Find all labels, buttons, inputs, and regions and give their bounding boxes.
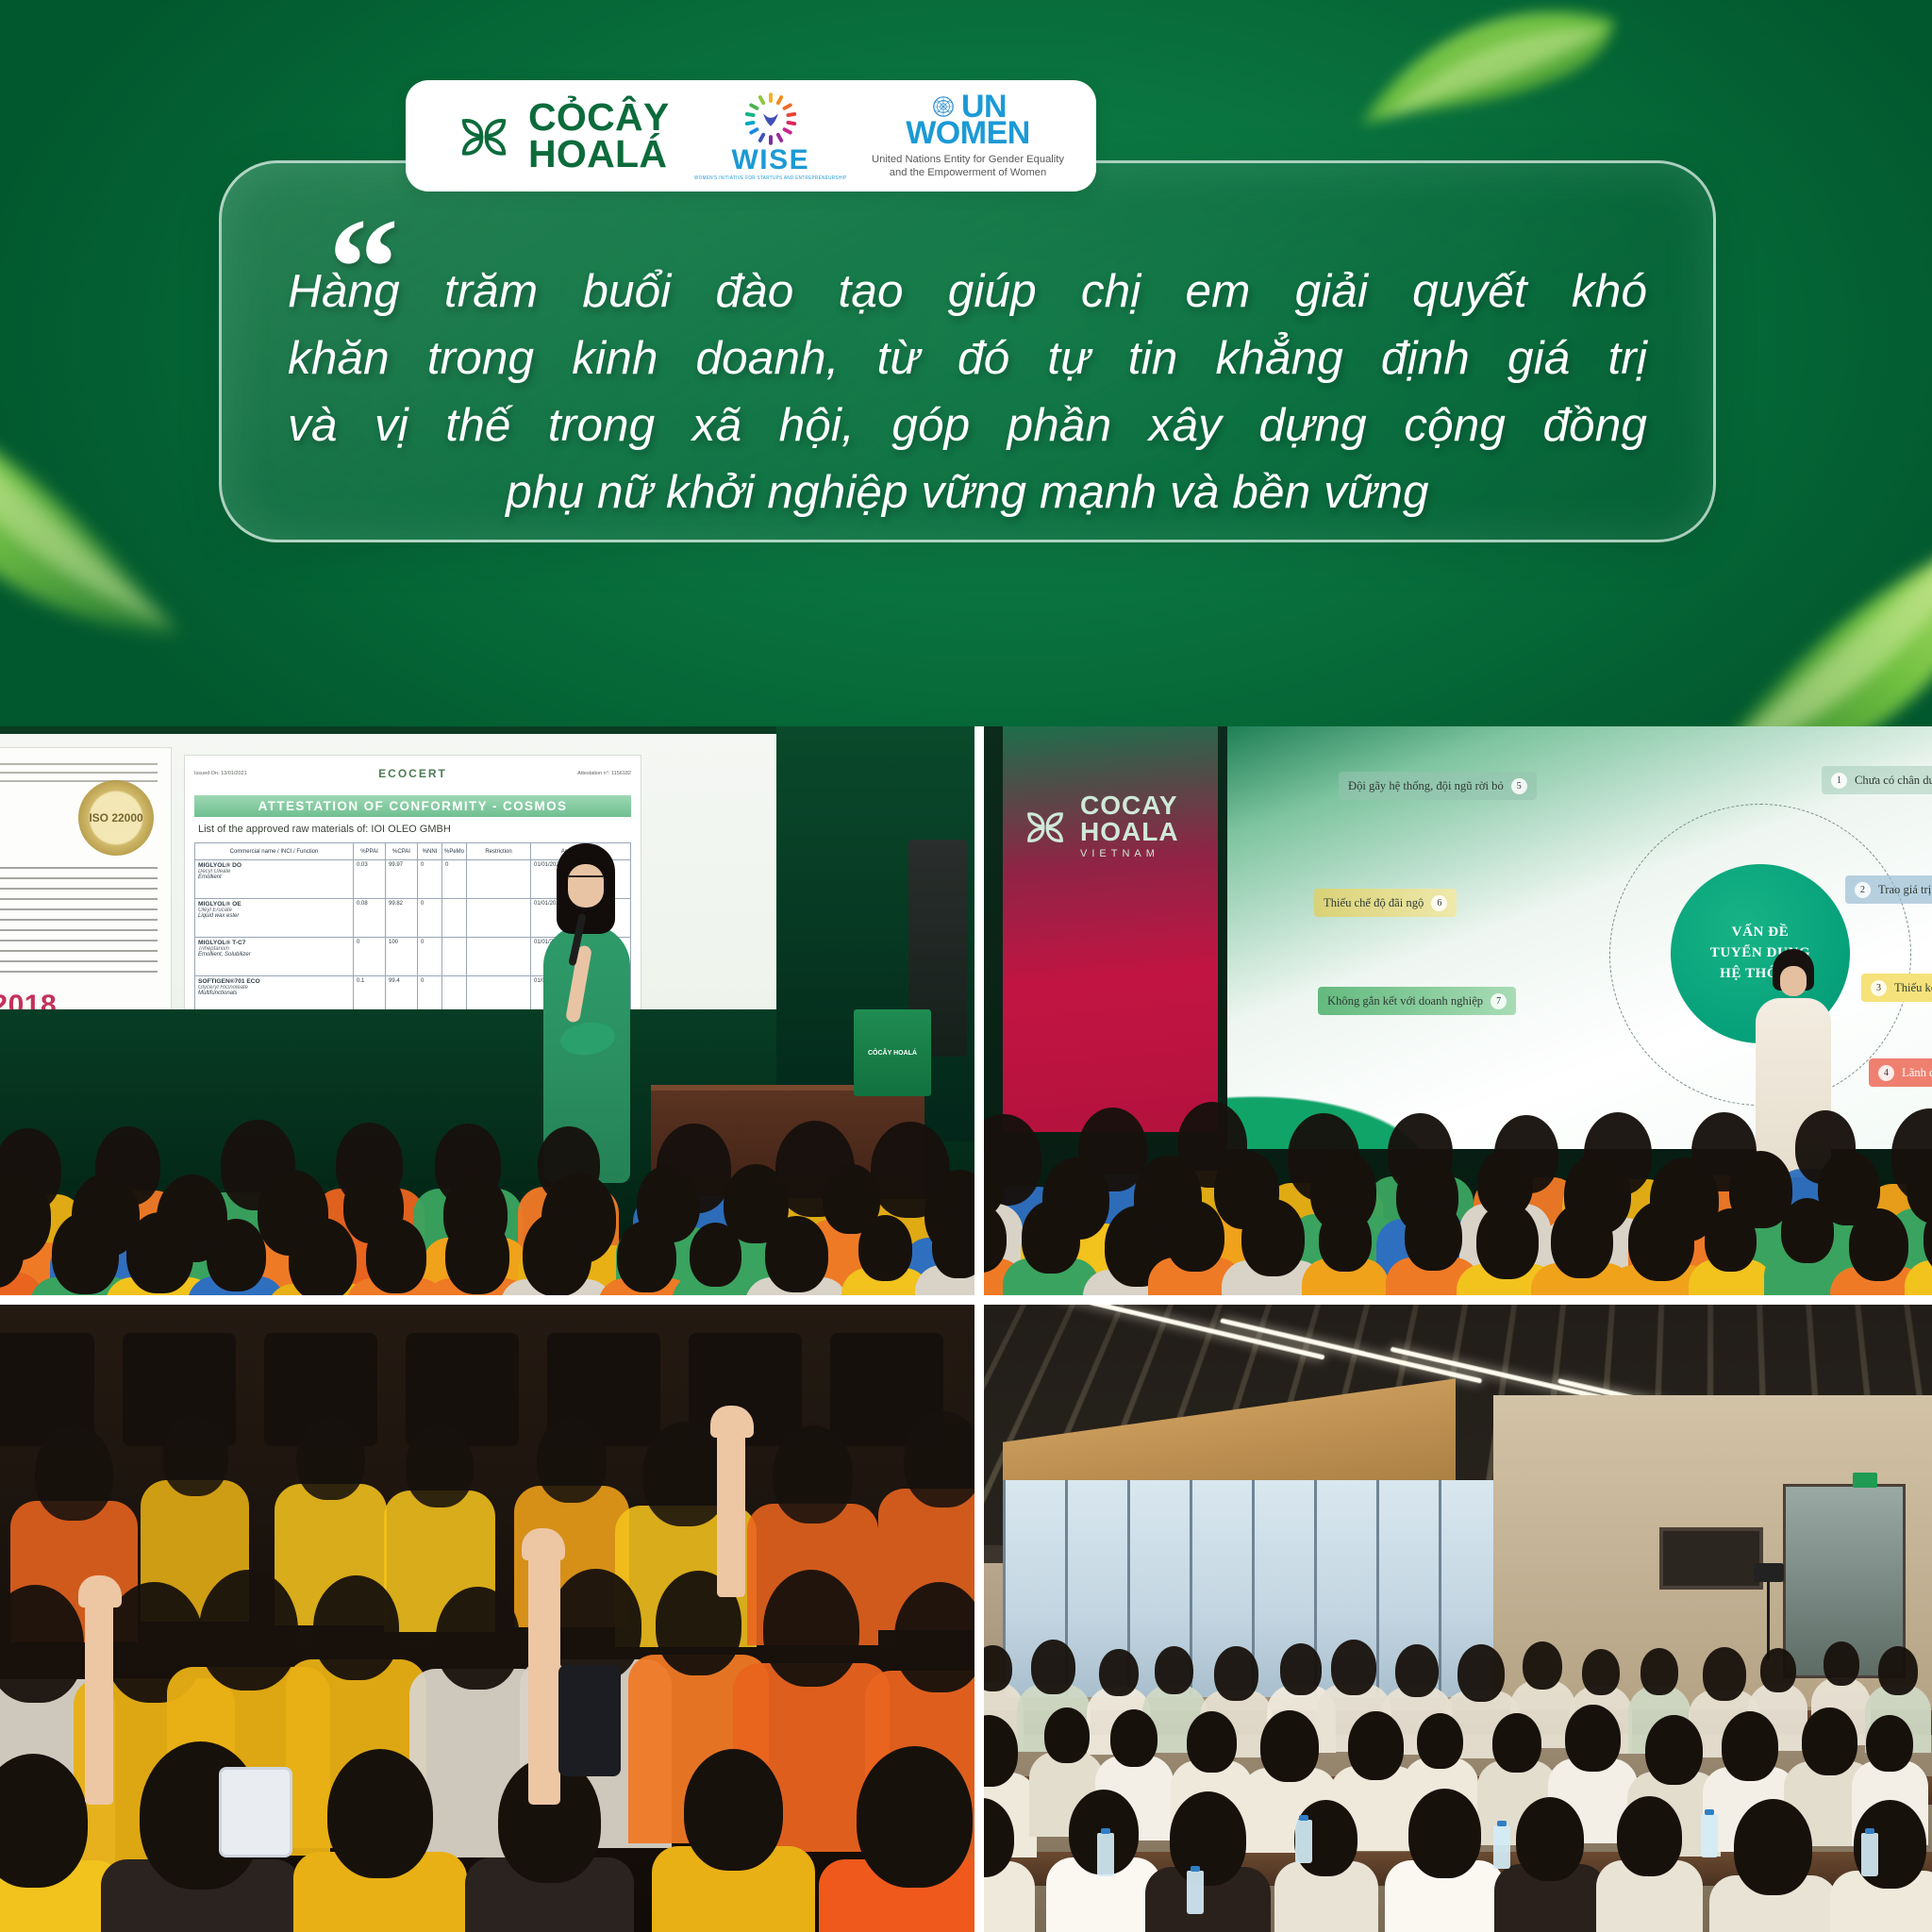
photo-bottom-left: [0, 1300, 979, 1932]
audience-person: [690, 1223, 742, 1295]
audience-person: [52, 1212, 119, 1295]
wise-tagline: WOMEN'S INITIATIVE FOR STARTUPS AND ENTR…: [694, 175, 847, 180]
women-wordmark: WOMEN: [906, 119, 1030, 148]
audience-person: [0, 1212, 24, 1295]
photo-top-left: 22000:2018 Issued On: 13/01/2021 Attesta…: [0, 726, 979, 1300]
leaf-sprout-icon: [453, 105, 515, 167]
audience-person: [1924, 1202, 1932, 1295]
quote-line-1: Hàng trăm buổi đào tạo giúp chị em giải …: [288, 258, 1647, 325]
audience-person: [207, 1219, 266, 1295]
audience-person: [0, 1754, 88, 1932]
water-bottle: [1701, 1814, 1718, 1857]
audience-person: [1022, 1201, 1080, 1295]
water-bottle: [1187, 1871, 1204, 1914]
raised-hand: [528, 1541, 560, 1805]
quote-line-3: và vị thế trong xã hội, góp phần xây dựn…: [288, 391, 1647, 458]
raised-hand: [85, 1588, 113, 1805]
audience-person: [684, 1749, 784, 1932]
logo-wise: WISE WOMEN'S INITIATIVE FOR STARTUPS AND…: [694, 92, 847, 180]
audience-person: [765, 1216, 828, 1295]
smartphone: [558, 1665, 621, 1776]
quote-line-2: khăn trong kinh doanh, từ đó tự tin khẳn…: [288, 325, 1647, 391]
audience-person: [1476, 1203, 1539, 1295]
audience-person: [984, 1798, 1014, 1932]
audience-person: [1241, 1199, 1305, 1295]
water-bottle: [1295, 1820, 1312, 1863]
audience-person: [932, 1212, 974, 1295]
cocay-hoala-line-2: HOALÁ: [528, 136, 670, 173]
audience-person: [1166, 1201, 1224, 1295]
audience-person: [1628, 1201, 1694, 1295]
wise-flower-icon: [744, 92, 797, 145]
audience-person: [445, 1216, 509, 1295]
photo-bottom-right: [979, 1300, 1932, 1932]
cocay-hoala-line-1: CỎCÂY: [528, 99, 670, 136]
hero-background: “ Hàng trăm buổi đào tạo giúp chị em giả…: [0, 0, 1932, 726]
audience-person: [126, 1212, 193, 1295]
audience-person: [289, 1218, 357, 1295]
audience-person: [857, 1746, 973, 1932]
water-bottle: [1097, 1833, 1114, 1876]
audience-person: [1405, 1201, 1462, 1295]
audience-person: [858, 1215, 912, 1295]
audience-person: [1617, 1796, 1682, 1932]
photo-grid: 22000:2018 Issued On: 13/01/2021 Attesta…: [0, 726, 1932, 1932]
audience-person: [1781, 1198, 1834, 1295]
quote-line-4: phụ nữ khởi nghiệp vững mạnh và bền vững: [288, 458, 1647, 525]
raised-hand: [717, 1418, 745, 1597]
audience-person: [1516, 1797, 1584, 1932]
quote-text: Hàng trăm buổi đào tạo giúp chị em giải …: [288, 258, 1647, 525]
un-women-subtitle-2: and the Empowerment of Women: [872, 166, 1064, 179]
audience-person: [1849, 1208, 1908, 1295]
quote-card: “ Hàng trăm buổi đào tạo giúp chị em giả…: [219, 160, 1716, 542]
water-bottle: [1493, 1825, 1510, 1869]
audience-person: [1170, 1791, 1247, 1932]
wise-wordmark: WISE: [731, 146, 809, 175]
logo-cocay-hoala: CỎCÂY HOALÁ: [453, 99, 670, 174]
photo-top-right: VẤN ĐỀ TUYỂN DỤNG HỆ THỐNG Đội gãy hệ th…: [979, 726, 1932, 1300]
logo-un-women: UN WOMEN United Nations Entity for Gende…: [872, 92, 1064, 180]
audience-person: [1319, 1207, 1372, 1295]
audience-person: [327, 1749, 433, 1932]
audience-person: [1408, 1789, 1482, 1932]
audience-person: [1734, 1799, 1812, 1932]
audience-person: [1705, 1208, 1757, 1295]
un-women-subtitle-1: United Nations Entity for Gender Equalit…: [872, 153, 1064, 166]
water-bottle: [1861, 1833, 1878, 1876]
audience-person: [1551, 1203, 1613, 1295]
logo-bar: CỎCÂY HOALÁ: [406, 80, 1096, 192]
audience-person: [366, 1219, 427, 1295]
audience-person: [617, 1221, 675, 1295]
smartphone: [219, 1767, 292, 1857]
audience-person: [523, 1212, 591, 1295]
